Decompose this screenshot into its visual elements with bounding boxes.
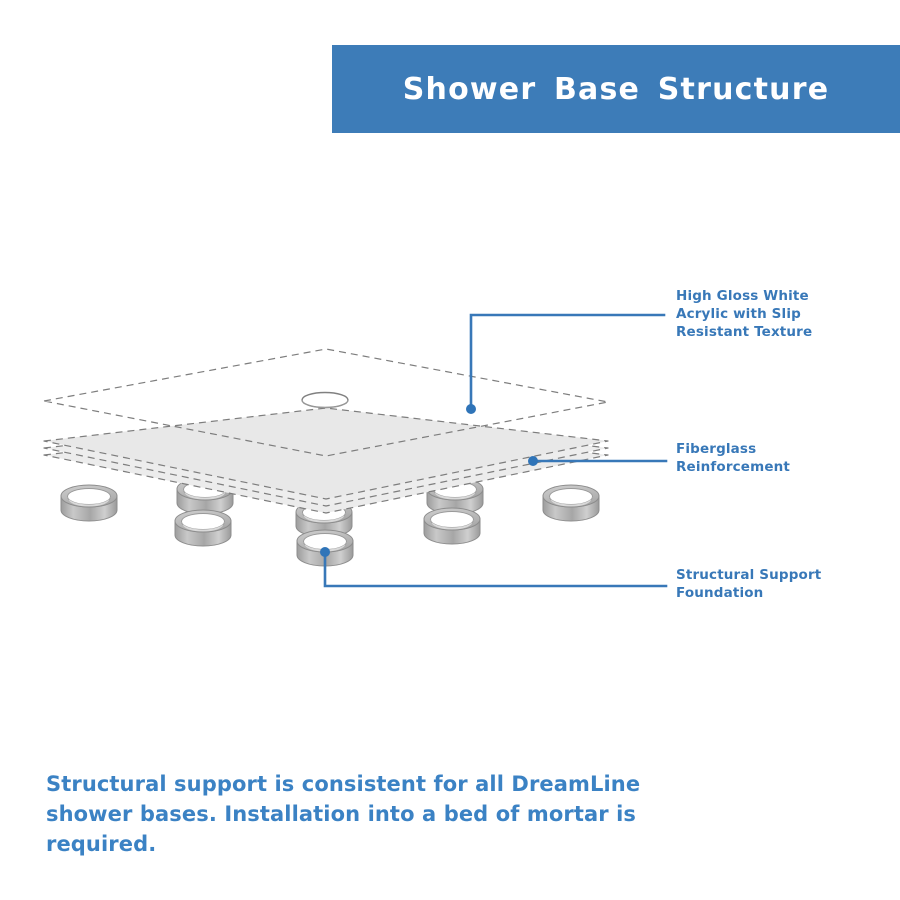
page-root: Shower Base Structure [0, 0, 900, 900]
callout-anchor-dot [320, 547, 330, 557]
support-ring [296, 501, 352, 537]
callout-line: Resistant Texture [676, 324, 891, 342]
callout-line: Acrylic with Slip [676, 306, 891, 324]
support-ring [175, 510, 231, 546]
support-ring [543, 485, 599, 521]
footer-caption: Structural support is consistent for all… [46, 770, 646, 859]
callout-line: Reinforcement [676, 459, 891, 477]
support-ring [424, 508, 480, 544]
callout-anchor-dot [466, 404, 476, 414]
page-title: Shower Base Structure [403, 72, 830, 107]
callout-line: Foundation [676, 585, 891, 603]
acrylic-top-plate [44, 349, 608, 456]
support-foundation-group [61, 478, 599, 566]
drain-opening-icon [302, 393, 348, 408]
callout-leaders [320, 315, 666, 586]
callout-label-support: Structural Support Foundation [676, 567, 891, 603]
callout-line: Fiberglass [676, 441, 891, 459]
callout-label-fiberglass: Fiberglass Reinforcement [676, 441, 891, 477]
callout-anchor-dot [528, 456, 538, 466]
support-ring [61, 485, 117, 521]
fiberglass-plate [44, 408, 608, 513]
callout-line: Structural Support [676, 567, 891, 585]
callout-leader-fiberglass [528, 456, 666, 466]
callout-line: High Gloss White [676, 288, 891, 306]
callout-leader-acrylic [466, 315, 664, 414]
support-ring [297, 530, 353, 566]
callout-label-acrylic: High Gloss White Acrylic with Slip Resis… [676, 288, 891, 341]
callout-leader-support [320, 547, 666, 586]
title-banner: Shower Base Structure [332, 45, 900, 133]
support-ring [177, 478, 233, 514]
support-ring [427, 478, 483, 514]
